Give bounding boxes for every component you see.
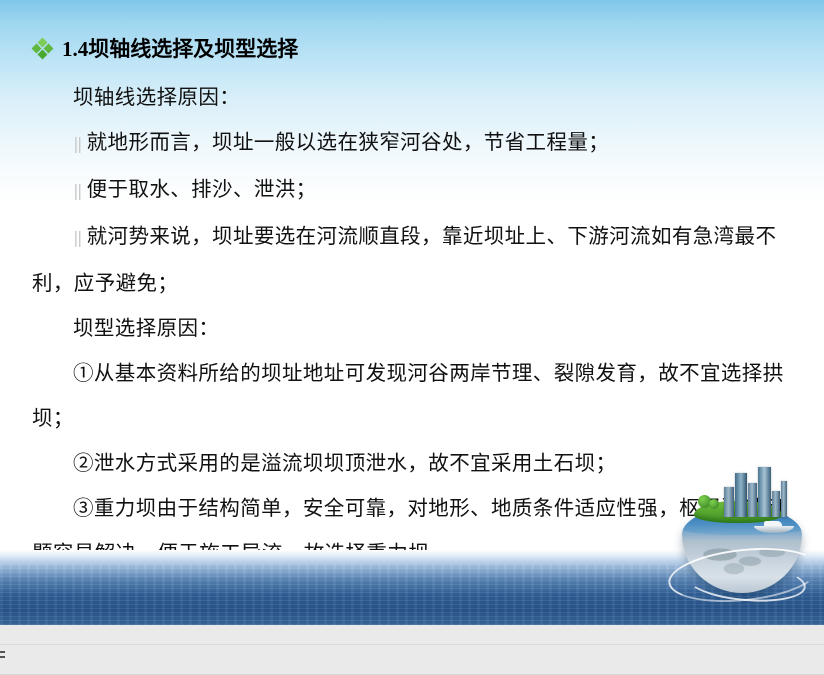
paragraph-text: 便于取水、排沙、泄洪； (87, 179, 317, 201)
body-paragraph: 坝轴线选择原因： (32, 76, 792, 121)
divider-line (0, 644, 824, 645)
body-paragraph: ①从基本资料所给的坝址地址可发现河谷两岸节理、裂隙发育，故不宜选择拱坝； (32, 352, 792, 442)
diamond-bullet-icon (33, 39, 52, 58)
globe-city-graphic (668, 471, 816, 603)
body-paragraph: ‖就地形而言，坝址一般以选在狭窄河谷处，节省工程量； (32, 121, 792, 168)
paragraph-text: 就河势来说，坝址要选在河流顺直段，靠近坝址上、下游河流如有急湾最不利，应予避免； (32, 226, 776, 295)
page-bottom-area (0, 625, 824, 675)
presentation-slide: 1.4坝轴线选择及坝型选择 坝轴线选择原因： ‖就地形而言，坝址一般以选在狭窄河… (0, 0, 824, 625)
tree-icon (709, 499, 719, 509)
body-paragraph: 坝型选择原因： (32, 307, 792, 352)
paragraph-text: 坝型选择原因： (73, 318, 219, 340)
list-marker-glyph: ‖ (73, 136, 87, 154)
paragraph-text: 坝轴线选择原因： (73, 87, 240, 109)
boat-icon (754, 521, 794, 533)
paragraph-text: ①从基本资料所给的坝址地址可发现河谷两岸节理、裂隙发育，故不宜选择拱坝； (32, 363, 784, 430)
paragraph-text: ②泄水方式采用的是溢流坝坝顶泄水，故不宜采用土石坝； (73, 453, 616, 475)
list-marker-glyph: ‖ (73, 230, 87, 248)
list-marker-glyph: ‖ (73, 183, 87, 201)
paragraph-text: 就地形而言，坝址一般以选在狭窄河谷处，节省工程量； (87, 132, 610, 154)
body-paragraph: ‖就河势来说，坝址要选在河流顺直段，靠近坝址上、下游河流如有急湾最不利，应予避免… (32, 215, 792, 307)
page-title: 1.4坝轴线选择及坝型选择 (62, 33, 298, 63)
edge-marker-icon (0, 651, 6, 665)
body-paragraph: ‖便于取水、排沙、泄洪； (32, 168, 792, 215)
slide-title-row: 1.4坝轴线选择及坝型选择 (33, 33, 298, 63)
city-skyline-icon (724, 467, 786, 517)
slide-page: 1.4坝轴线选择及坝型选择 坝轴线选择原因： ‖就地形而言，坝址一般以选在狭窄河… (0, 0, 824, 675)
